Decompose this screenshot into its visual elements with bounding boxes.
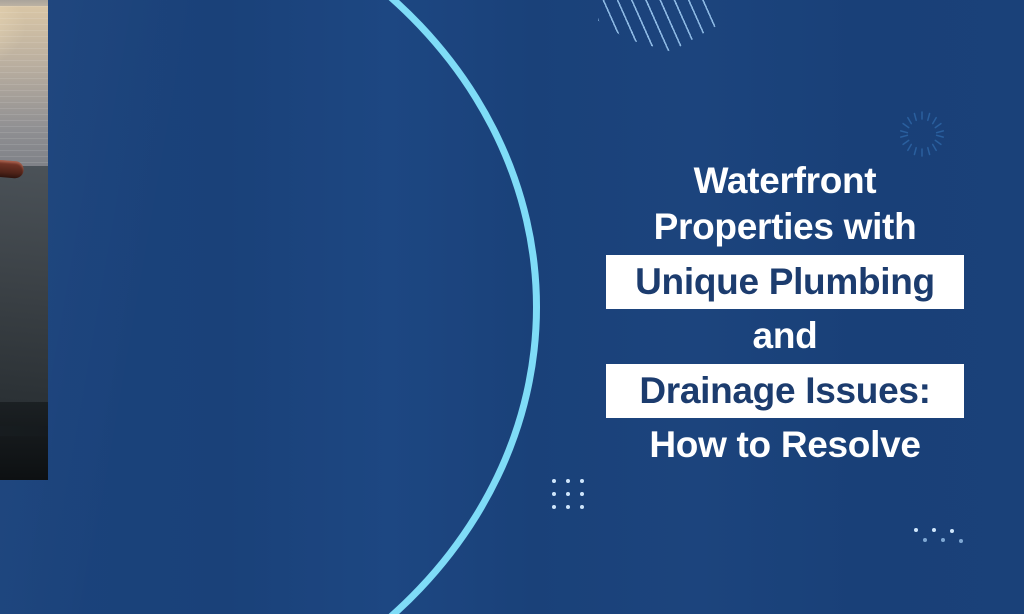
vault-floor-edge xyxy=(0,426,48,436)
vault-floor xyxy=(0,402,48,480)
title-line-3-highlight: Unique Plumbing xyxy=(606,255,964,309)
title-line-6: How to Resolve xyxy=(606,422,964,468)
blog-banner: Waterfront Properties with Unique Plumbi… xyxy=(0,0,1024,614)
offset-dot-rows-icon xyxy=(912,528,968,552)
title-line-4: and xyxy=(606,313,964,359)
hero-image-stage xyxy=(0,0,48,480)
radial-burst-icon xyxy=(898,110,946,158)
title-line-2: Properties with xyxy=(606,204,964,250)
hero-image-circle-mask xyxy=(0,0,534,614)
banner-title: Waterfront Properties with Unique Plumbi… xyxy=(606,158,964,468)
title-line-5-highlight: Drainage Issues: xyxy=(606,364,964,418)
hero-image xyxy=(0,0,48,480)
dot-grid-icon xyxy=(552,479,586,513)
title-line-1: Waterfront xyxy=(606,158,964,204)
